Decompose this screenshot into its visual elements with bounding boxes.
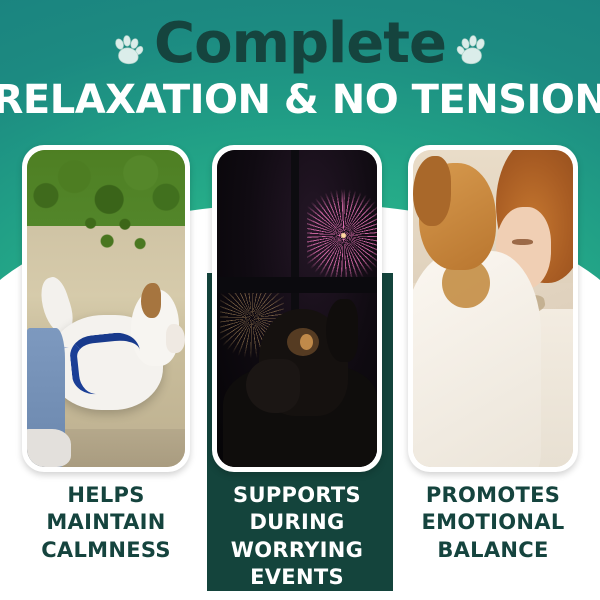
benefit-label-line: EMOTIONAL	[408, 509, 578, 536]
benefit-card-calmness	[22, 145, 190, 472]
benefit-label-emotional-balance: PROMOTES EMOTIONAL BALANCE	[408, 482, 578, 564]
benefit-label-line: BALANCE	[408, 537, 578, 564]
benefit-label-calmness: HELPS MAINTAIN CALMNESS	[22, 482, 190, 564]
promo-poster: Complete RELAXATION & NO TENSION	[0, 0, 600, 600]
dog-cuddling-sleeping-child-photo	[413, 150, 573, 467]
title-row: Complete	[0, 16, 600, 72]
benefit-card-worrying-events	[212, 145, 382, 472]
dog-ear-shape	[141, 283, 162, 318]
dog-snout-shape	[246, 359, 300, 413]
benefit-labels: HELPS MAINTAIN CALMNESS SUPPORTS DURING …	[0, 482, 600, 600]
benefit-label-line: EVENTS	[212, 564, 382, 591]
benefit-label-line: CALMNESS	[22, 537, 190, 564]
benefit-label-line: HELPS	[22, 482, 190, 509]
dog-ear-shape	[413, 156, 451, 226]
benefit-card-emotional-balance	[408, 145, 578, 472]
child-closed-eye-shape	[512, 239, 533, 245]
benefit-label-line: WORRYING	[212, 537, 382, 564]
window-frame-horizontal	[217, 277, 377, 293]
person-shoe-shape	[27, 429, 71, 467]
page-subtitle: RELAXATION & NO TENSION	[0, 80, 600, 120]
paw-print-icon	[456, 34, 490, 68]
benefit-label-line: DURING	[212, 509, 382, 536]
benefit-label-line: PROMOTES	[408, 482, 578, 509]
firework-burst-icon	[307, 182, 377, 290]
dog-snout-shape	[166, 324, 185, 353]
dog-eye-shape	[300, 334, 313, 350]
benefit-label-line: SUPPORTS	[212, 482, 382, 509]
dog-walking-on-leash-photo	[27, 150, 185, 467]
dog-ear-shape	[326, 299, 358, 362]
poster-header: Complete RELAXATION & NO TENSION	[0, 0, 600, 140]
dog-watching-fireworks-through-window-photo	[217, 150, 377, 467]
branch-decoration	[84, 213, 150, 264]
paw-print-icon	[110, 34, 144, 68]
window-frame-vertical	[291, 150, 299, 334]
benefit-label-worrying-events: SUPPORTS DURING WORRYING EVENTS	[212, 482, 382, 591]
page-title: Complete	[154, 16, 446, 72]
benefit-label-line: MAINTAIN	[22, 509, 190, 536]
